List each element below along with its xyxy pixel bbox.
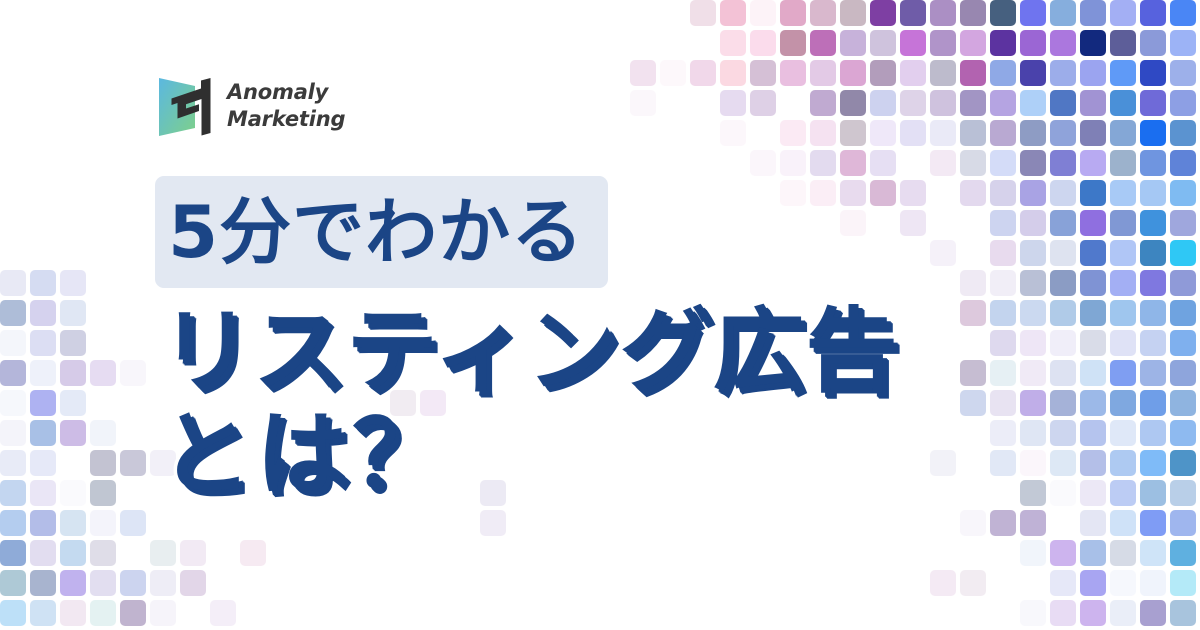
mosaic-tile [90, 420, 116, 446]
mosaic-tile [1170, 360, 1196, 386]
mosaic-tile [720, 60, 746, 86]
mosaic-tile [1170, 540, 1196, 566]
mosaic-tile [1170, 240, 1196, 266]
mosaic-tile [1140, 240, 1166, 266]
mosaic-tile [960, 360, 986, 386]
mosaic-tile [240, 540, 266, 566]
mosaic-tile [1170, 330, 1196, 356]
mosaic-tile [120, 450, 146, 476]
mosaic-tile [1110, 150, 1136, 176]
mosaic-tile [1080, 420, 1106, 446]
anomaly-chevron-logo-mark-icon [155, 72, 217, 140]
mosaic-tile [30, 300, 56, 326]
mosaic-tile [1080, 30, 1106, 56]
mosaic-tile [1020, 540, 1046, 566]
mosaic-tile [1020, 390, 1046, 416]
mosaic-tile [0, 540, 26, 566]
mosaic-tile [60, 510, 86, 536]
mosaic-tile [1140, 150, 1166, 176]
mosaic-tile [0, 360, 26, 386]
mosaic-tile [1110, 300, 1136, 326]
mosaic-tile [990, 450, 1016, 476]
mosaic-tile [1050, 450, 1076, 476]
page-title-line2: とは？ [160, 403, 898, 506]
mosaic-tile [0, 600, 26, 626]
mosaic-tile [60, 360, 86, 386]
mosaic-tile [900, 60, 926, 86]
mosaic-tile [90, 600, 116, 626]
mosaic-tile [1080, 150, 1106, 176]
mosaic-tile [1110, 120, 1136, 146]
mosaic-tile [1140, 270, 1166, 296]
mosaic-tile [1110, 210, 1136, 236]
mosaic-tile [750, 0, 776, 26]
mosaic-tile [30, 570, 56, 596]
mosaic-tile [990, 180, 1016, 206]
mosaic-tile [1080, 360, 1106, 386]
mosaic-tile [1020, 210, 1046, 236]
mosaic-tile [750, 30, 776, 56]
mosaic-tile [1050, 480, 1076, 506]
mosaic-tile [0, 510, 26, 536]
mosaic-tile [1110, 60, 1136, 86]
mosaic-tile [1080, 330, 1106, 356]
mosaic-tile [30, 510, 56, 536]
mosaic-tile [90, 570, 116, 596]
mosaic-tile [1170, 390, 1196, 416]
mosaic-tile [1050, 540, 1076, 566]
mosaic-tile [1140, 540, 1166, 566]
mosaic-tile [1020, 300, 1046, 326]
mosaic-tile [1080, 300, 1106, 326]
mosaic-tile [720, 90, 746, 116]
mosaic-tile [1020, 180, 1046, 206]
mosaic-tile [990, 420, 1016, 446]
mosaic-tile [720, 120, 746, 146]
mosaic-tile [720, 30, 746, 56]
mosaic-tile [30, 330, 56, 356]
mosaic-tile [990, 240, 1016, 266]
mosaic-tile [1140, 450, 1166, 476]
mosaic-tile [870, 150, 896, 176]
mosaic-tile [1050, 570, 1076, 596]
mosaic-tile [930, 240, 956, 266]
mosaic-tile [1170, 480, 1196, 506]
mosaic-tile [1080, 390, 1106, 416]
mosaic-tile [1110, 600, 1136, 626]
mosaic-tile [1140, 210, 1166, 236]
mosaic-tile [1140, 570, 1166, 596]
mosaic-tile [0, 480, 26, 506]
mosaic-tile [870, 60, 896, 86]
mosaic-tile [810, 120, 836, 146]
mosaic-tile [120, 510, 146, 536]
mosaic-tile [810, 30, 836, 56]
brand-logo[interactable]: Anomaly Marketing [155, 72, 345, 140]
mosaic-tile [960, 150, 986, 176]
mosaic-tile [960, 90, 986, 116]
mosaic-tile [990, 300, 1016, 326]
mosaic-tile [1140, 60, 1166, 86]
mosaic-tile [840, 30, 866, 56]
mosaic-tile [1170, 180, 1196, 206]
mosaic-tile [960, 300, 986, 326]
mosaic-tile [1140, 90, 1166, 116]
mosaic-tile [480, 510, 506, 536]
mosaic-tile [1080, 240, 1106, 266]
page-title-line1: リスティング広告 [160, 300, 898, 403]
mosaic-tile [690, 60, 716, 86]
mosaic-tile [900, 0, 926, 26]
mosaic-tile [990, 0, 1016, 26]
mosaic-tile [1170, 510, 1196, 536]
mosaic-tile [1140, 0, 1166, 26]
mosaic-tile [1050, 0, 1076, 26]
mosaic-tile [150, 540, 176, 566]
mosaic-tile [1170, 420, 1196, 446]
mosaic-tile [1050, 210, 1076, 236]
mosaic-tile [60, 540, 86, 566]
mosaic-tile [870, 180, 896, 206]
mosaic-tile [1020, 120, 1046, 146]
mosaic-tile [990, 120, 1016, 146]
mosaic-tile [630, 60, 656, 86]
mosaic-tile [1170, 60, 1196, 86]
mosaic-tile [840, 60, 866, 86]
mosaic-tile [960, 270, 986, 296]
mosaic-tile [1140, 360, 1166, 386]
mosaic-tile [1050, 60, 1076, 86]
mosaic-tile [1020, 450, 1046, 476]
mosaic-tile [960, 180, 986, 206]
mosaic-tile [960, 30, 986, 56]
mosaic-tile [0, 570, 26, 596]
mosaic-tile [750, 150, 776, 176]
mosaic-tile [960, 60, 986, 86]
mosaic-tile [840, 180, 866, 206]
mosaic-tile [930, 150, 956, 176]
mosaic-tile [90, 450, 116, 476]
mosaic-tile [1020, 270, 1046, 296]
mosaic-tile [1170, 600, 1196, 626]
mosaic-tile [840, 90, 866, 116]
mosaic-tile [870, 0, 896, 26]
mosaic-tile [90, 540, 116, 566]
mosaic-tile [60, 570, 86, 596]
mosaic-tile [630, 90, 656, 116]
mosaic-tile [1110, 330, 1136, 356]
mosaic-tile [1140, 300, 1166, 326]
mosaic-tile [1140, 30, 1166, 56]
mosaic-tile [1110, 90, 1136, 116]
mosaic-tile [0, 330, 26, 356]
mosaic-tile [960, 510, 986, 536]
mosaic-tile [990, 510, 1016, 536]
mosaic-tile [1080, 270, 1106, 296]
mosaic-tile [1080, 570, 1106, 596]
mosaic-tile [1170, 150, 1196, 176]
mosaic-tile [960, 390, 986, 416]
mosaic-tile [1110, 240, 1136, 266]
mosaic-tile [1170, 450, 1196, 476]
mosaic-tile [1140, 600, 1166, 626]
mosaic-tile [120, 600, 146, 626]
mosaic-tile [1050, 270, 1076, 296]
mosaic-tile [810, 60, 836, 86]
mosaic-tile [780, 120, 806, 146]
mosaic-tile [900, 30, 926, 56]
mosaic-tile [1170, 90, 1196, 116]
mosaic-tile [1080, 120, 1106, 146]
mosaic-tile [30, 600, 56, 626]
mosaic-tile [1080, 180, 1106, 206]
mosaic-tile [930, 450, 956, 476]
mosaic-tile [90, 480, 116, 506]
mosaic-tile [1140, 390, 1166, 416]
mosaic-tile [30, 450, 56, 476]
mosaic-tile [1020, 600, 1046, 626]
mosaic-tile [1050, 240, 1076, 266]
mosaic-tile [990, 30, 1016, 56]
mosaic-tile [1020, 330, 1046, 356]
mosaic-tile [780, 180, 806, 206]
mosaic-tile [810, 150, 836, 176]
mosaic-tile [0, 450, 26, 476]
mosaic-tile [1080, 480, 1106, 506]
mosaic-tile [1080, 60, 1106, 86]
mosaic-tile [0, 300, 26, 326]
mosaic-tile [1110, 390, 1136, 416]
mosaic-tile [60, 480, 86, 506]
mosaic-tile [810, 0, 836, 26]
mosaic-tile [1170, 300, 1196, 326]
mosaic-tile [0, 270, 26, 296]
mosaic-tile [1170, 30, 1196, 56]
mosaic-tile [0, 390, 26, 416]
mosaic-tile [870, 120, 896, 146]
mosaic-tile [1110, 540, 1136, 566]
mosaic-tile [60, 600, 86, 626]
brand-name-line2: Marketing [227, 106, 345, 133]
mosaic-tile [870, 30, 896, 56]
mosaic-tile [1020, 150, 1046, 176]
mosaic-tile [1110, 180, 1136, 206]
mosaic-tile [1050, 360, 1076, 386]
mosaic-tile [60, 390, 86, 416]
mosaic-tile [60, 270, 86, 296]
mosaic-tile [1110, 450, 1136, 476]
mosaic-tile [780, 60, 806, 86]
mosaic-tile [1050, 120, 1076, 146]
mosaic-tile [1170, 570, 1196, 596]
mosaic-tile [1020, 420, 1046, 446]
mosaic-tile [1140, 480, 1166, 506]
mosaic-tile [780, 0, 806, 26]
mosaic-tile [30, 390, 56, 416]
mosaic-tile [930, 570, 956, 596]
mosaic-tile [990, 390, 1016, 416]
brand-name-line1: Anomaly [227, 79, 345, 106]
mosaic-tile [60, 300, 86, 326]
mosaic-tile [60, 330, 86, 356]
mosaic-tile [1050, 330, 1076, 356]
mosaic-tile [1020, 240, 1046, 266]
mosaic-tile [810, 180, 836, 206]
mosaic-tile [0, 420, 26, 446]
mosaic-tile [30, 540, 56, 566]
mosaic-tile [1110, 420, 1136, 446]
mosaic-tile [870, 90, 896, 116]
mosaic-tile [1110, 510, 1136, 536]
mosaic-tile [90, 510, 116, 536]
page-title: リスティング広告 とは？ [160, 300, 898, 506]
mosaic-tile [1170, 210, 1196, 236]
mosaic-tile [780, 30, 806, 56]
mosaic-tile [900, 90, 926, 116]
mosaic-tile [1080, 0, 1106, 26]
mosaic-tile [1170, 120, 1196, 146]
mosaic-tile [990, 360, 1016, 386]
mosaic-tile [1140, 120, 1166, 146]
mosaic-tile [1050, 600, 1076, 626]
mosaic-tile [30, 480, 56, 506]
mosaic-tile [1050, 150, 1076, 176]
mosaic-tile [690, 0, 716, 26]
mosaic-tile [1080, 450, 1106, 476]
mosaic-tile [1020, 0, 1046, 26]
mosaic-tile [990, 150, 1016, 176]
mosaic-tile [120, 360, 146, 386]
mosaic-tile [990, 270, 1016, 296]
mosaic-tile [150, 600, 176, 626]
og-image-canvas: Anomaly Marketing 5分でわかる リスティング広告 とは？ [0, 0, 1200, 630]
mosaic-tile [1050, 390, 1076, 416]
mosaic-tile [1020, 30, 1046, 56]
mosaic-tile [1140, 510, 1166, 536]
mosaic-tile [1050, 90, 1076, 116]
mosaic-tile [180, 540, 206, 566]
mosaic-tile [30, 270, 56, 296]
mosaic-tile [750, 60, 776, 86]
mosaic-tile [30, 360, 56, 386]
mosaic-tile [1080, 600, 1106, 626]
mosaic-tile [840, 150, 866, 176]
mosaic-tile [1020, 510, 1046, 536]
mosaic-tile [960, 0, 986, 26]
mosaic-tile [1140, 180, 1166, 206]
mosaic-tile [1170, 0, 1196, 26]
mosaic-tile [900, 180, 926, 206]
mosaic-tile [150, 570, 176, 596]
mosaic-tile [1170, 270, 1196, 296]
mosaic-tile [1020, 90, 1046, 116]
mosaic-tile [900, 120, 926, 146]
mosaic-tile [930, 0, 956, 26]
mosaic-tile [960, 570, 986, 596]
mosaic-tile [1050, 420, 1076, 446]
mosaic-tile [990, 330, 1016, 356]
mosaic-tile [750, 90, 776, 116]
mosaic-tile [1110, 480, 1136, 506]
mosaic-tile [1080, 510, 1106, 536]
mosaic-tile [960, 120, 986, 146]
mosaic-tile [720, 0, 746, 26]
mosaic-tile [1050, 30, 1076, 56]
eyebrow-badge-label: 5分でわかる [168, 180, 608, 284]
mosaic-tile [930, 90, 956, 116]
mosaic-tile [930, 120, 956, 146]
mosaic-tile [1110, 30, 1136, 56]
mosaic-tile [1140, 420, 1166, 446]
mosaic-tile [930, 60, 956, 86]
mosaic-tile [1080, 210, 1106, 236]
mosaic-tile [1020, 60, 1046, 86]
mosaic-tile [1080, 90, 1106, 116]
mosaic-tile [1080, 540, 1106, 566]
mosaic-tile [120, 570, 146, 596]
mosaic-tile [1020, 480, 1046, 506]
mosaic-tile [210, 600, 236, 626]
mosaic-tile [990, 210, 1016, 236]
mosaic-tile [990, 60, 1016, 86]
mosaic-tile [1050, 180, 1076, 206]
mosaic-tile [60, 420, 86, 446]
mosaic-tile [1050, 300, 1076, 326]
mosaic-tile [30, 420, 56, 446]
mosaic-tile [1110, 0, 1136, 26]
mosaic-tile [810, 90, 836, 116]
mosaic-tile [840, 120, 866, 146]
mosaic-tile [1140, 330, 1166, 356]
mosaic-tile [1020, 360, 1046, 386]
mosaic-tile [660, 60, 686, 86]
mosaic-tile [990, 90, 1016, 116]
mosaic-tile [840, 0, 866, 26]
brand-name: Anomaly Marketing [227, 79, 345, 133]
mosaic-tile [90, 360, 116, 386]
mosaic-tile [1110, 570, 1136, 596]
mosaic-tile [1110, 360, 1136, 386]
mosaic-tile [930, 30, 956, 56]
mosaic-tile [840, 210, 866, 236]
mosaic-tile [180, 570, 206, 596]
mosaic-tile [780, 150, 806, 176]
mosaic-tile [1110, 270, 1136, 296]
mosaic-tile [900, 210, 926, 236]
